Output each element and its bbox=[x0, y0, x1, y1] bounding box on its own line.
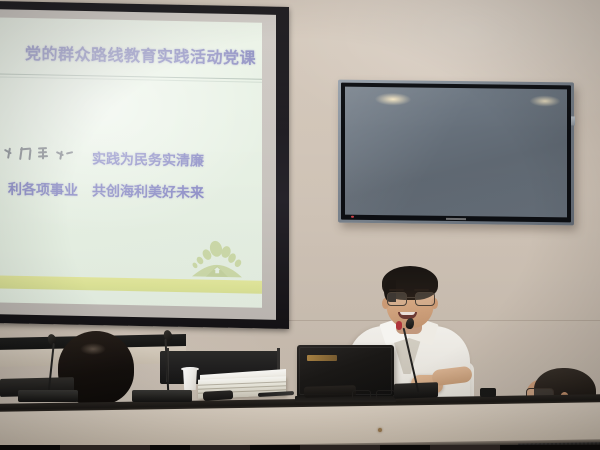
laptop-base-shadow bbox=[304, 385, 356, 398]
microphone-gooseneck bbox=[164, 339, 169, 397]
microphone-gooseneck bbox=[47, 343, 55, 397]
slide-line-2: 利各项事业 共创海利美好未来 bbox=[0, 178, 262, 204]
tv-brand-logo bbox=[446, 218, 466, 220]
lenovo-logo-icon bbox=[307, 355, 337, 361]
presenter-brow-right bbox=[414, 289, 429, 291]
conference-microphone-left bbox=[18, 334, 74, 400]
presenter-brow-left bbox=[389, 289, 404, 291]
slide-body: 实践为民务实清廉 利各项事业 共创海利美好未来 bbox=[0, 145, 262, 216]
tv-screen-reflection bbox=[345, 87, 567, 218]
conference-room-photo: 党的群众路线教育实践活动党课 bbox=[0, 0, 600, 450]
slide-line-1-right: 实践为民务实清廉 bbox=[92, 148, 204, 170]
eyeglasses-icon bbox=[386, 292, 434, 304]
eyeglasses-on-desk-icon bbox=[352, 390, 396, 398]
microphone-capsule-icon bbox=[405, 317, 415, 329]
leaf-plant-logo-icon bbox=[186, 238, 248, 279]
desk-screw bbox=[378, 428, 382, 432]
slide-title: 党的群众路线教育实践活动党课 bbox=[0, 39, 256, 68]
tv-power-led-icon bbox=[351, 216, 354, 218]
tv-side-connector bbox=[571, 116, 575, 125]
microphone-base bbox=[132, 390, 192, 402]
conference-microphone-center bbox=[136, 330, 192, 400]
calligraphy-signature-icon bbox=[0, 145, 78, 163]
slide-line-2-right: 共创海利美好未来 bbox=[92, 180, 204, 202]
microphone-red-marker bbox=[396, 321, 402, 330]
presentation-slide: 党的群众路线教育实践活动党课 bbox=[0, 17, 262, 307]
wall-mounted-tv bbox=[338, 80, 574, 226]
bottom-edge-bar bbox=[0, 445, 600, 450]
microphone-gooseneck bbox=[403, 328, 420, 393]
desk-small-device bbox=[480, 388, 496, 397]
remote-control bbox=[203, 390, 233, 401]
slide-line-1-left bbox=[0, 145, 78, 167]
tv-bezel bbox=[341, 83, 571, 223]
slide-line-1: 实践为民务实清廉 bbox=[0, 145, 262, 172]
microphone-base bbox=[18, 390, 78, 402]
conference-microphone-presenter bbox=[396, 318, 446, 402]
slide-line-2-left: 利各项事业 bbox=[0, 178, 78, 200]
tv-screen bbox=[345, 87, 567, 218]
